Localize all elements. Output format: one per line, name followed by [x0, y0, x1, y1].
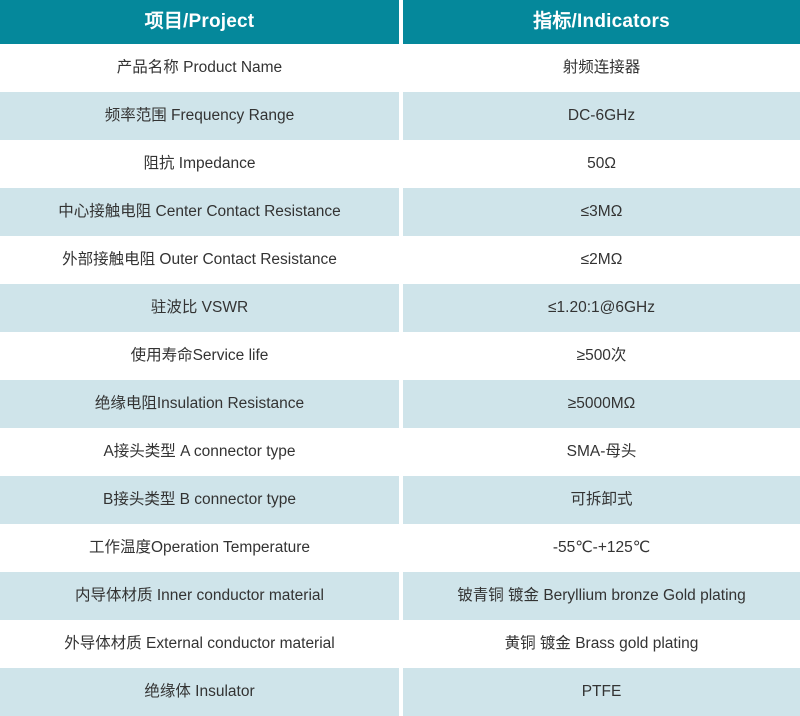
cell-indicator: ≥500次 [403, 332, 800, 380]
cell-indicator: ≤1.20:1@6GHz [403, 284, 800, 332]
table-row: 外部接触电阻 Outer Contact Resistance≤2MΩ [0, 236, 800, 284]
cell-indicator: -55℃-+125℃ [403, 524, 800, 572]
table-row: 产品名称 Product Name射频连接器 [0, 44, 800, 92]
table-body: 产品名称 Product Name射频连接器频率范围 Frequency Ran… [0, 44, 800, 716]
cell-project: 阻抗 Impedance [0, 140, 399, 188]
table-row: A接头类型 A connector typeSMA-母头 [0, 428, 800, 476]
cell-indicator: ≤2MΩ [403, 236, 800, 284]
cell-project: A接头类型 A connector type [0, 428, 399, 476]
cell-project: 外部接触电阻 Outer Contact Resistance [0, 236, 399, 284]
specification-table: 项目/Project 指标/Indicators 产品名称 Product Na… [0, 0, 800, 680]
cell-project: B接头类型 B connector type [0, 476, 399, 524]
cell-indicator: 黄铜 镀金 Brass gold plating [403, 620, 800, 668]
cell-project: 产品名称 Product Name [0, 44, 399, 92]
table-row: 绝缘电阻Insulation Resistance≥5000MΩ [0, 380, 800, 428]
table-row: 频率范围 Frequency RangeDC-6GHz [0, 92, 800, 140]
cell-project: 使用寿命Service life [0, 332, 399, 380]
column-header-project: 项目/Project [0, 0, 399, 44]
cell-indicator: 50Ω [403, 140, 800, 188]
cell-indicator: ≥5000MΩ [403, 380, 800, 428]
cell-project: 绝缘体 Insulator [0, 668, 399, 716]
table-row: 阻抗 Impedance50Ω [0, 140, 800, 188]
table-row: 中心接触电阻 Center Contact Resistance≤3MΩ [0, 188, 800, 236]
cell-project: 内导体材质 Inner conductor material [0, 572, 399, 620]
table-row: 内导体材质 Inner conductor material铍青铜 镀金 Ber… [0, 572, 800, 620]
cell-project: 频率范围 Frequency Range [0, 92, 399, 140]
cell-project: 工作温度Operation Temperature [0, 524, 399, 572]
column-header-indicators: 指标/Indicators [403, 0, 800, 44]
cell-indicator: 铍青铜 镀金 Beryllium bronze Gold plating [403, 572, 800, 620]
cell-project: 中心接触电阻 Center Contact Resistance [0, 188, 399, 236]
table-header-row: 项目/Project 指标/Indicators [0, 0, 800, 44]
cell-indicator: 可拆卸式 [403, 476, 800, 524]
table-row: B接头类型 B connector type可拆卸式 [0, 476, 800, 524]
cell-indicator: SMA-母头 [403, 428, 800, 476]
table-row: 工作温度Operation Temperature-55℃-+125℃ [0, 524, 800, 572]
table-row: 绝缘体 InsulatorPTFE [0, 668, 800, 716]
cell-project: 驻波比 VSWR [0, 284, 399, 332]
cell-indicator: DC-6GHz [403, 92, 800, 140]
cell-project: 外导体材质 External conductor material [0, 620, 399, 668]
table-row: 驻波比 VSWR≤1.20:1@6GHz [0, 284, 800, 332]
cell-indicator: 射频连接器 [403, 44, 800, 92]
cell-indicator: PTFE [403, 668, 800, 716]
cell-indicator: ≤3MΩ [403, 188, 800, 236]
cell-project: 绝缘电阻Insulation Resistance [0, 380, 399, 428]
table-row: 外导体材质 External conductor material黄铜 镀金 B… [0, 620, 800, 668]
table-row: 使用寿命Service life≥500次 [0, 332, 800, 380]
